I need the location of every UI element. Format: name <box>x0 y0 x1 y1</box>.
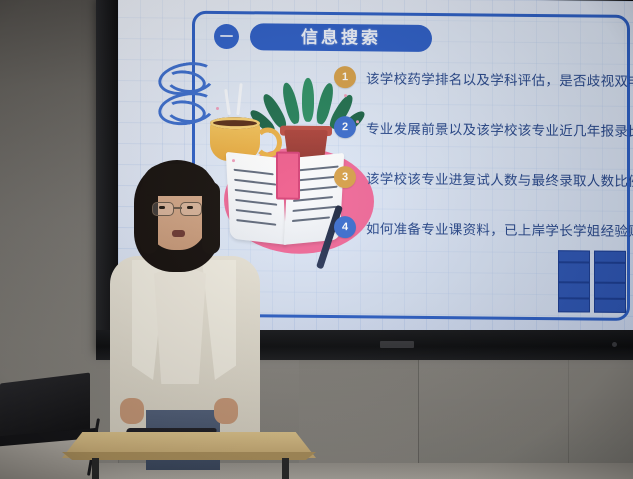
bullet-text: 专业发展前景以及该学校该专业近几年报录比 <box>366 117 633 140</box>
list-item: 4 如何准备专业课资料，已上岸学长学姐经验贴 <box>334 202 632 255</box>
list-item: 1 该学校药学排名以及学科评估，是否歧视双非 <box>334 52 632 105</box>
podium-leg <box>92 458 99 479</box>
wall-panel <box>568 352 633 479</box>
bullet-text: 该学校药学排名以及学科评估，是否歧视双非 <box>366 67 633 90</box>
presenter <box>118 160 248 460</box>
display-sensor-icon <box>612 342 617 347</box>
hand-right <box>214 398 238 424</box>
steam-icon <box>236 83 242 115</box>
slide-bullet-list: 1 该学校药学排名以及学科评估，是否歧视双非 2 专业发展前景以及该学校该专业近… <box>334 52 632 255</box>
mouth <box>172 230 185 237</box>
bookshelf-decoration <box>558 250 626 311</box>
steam-icon <box>224 89 231 115</box>
bullet-number: 2 <box>334 116 356 138</box>
hand-left <box>120 398 144 424</box>
eye-left <box>159 206 165 209</box>
glasses-lens-left <box>152 202 174 216</box>
eye-right <box>187 206 193 209</box>
bullet-number: 4 <box>334 216 356 238</box>
page-title: 信息搜索 <box>250 23 432 52</box>
hair-fringe <box>142 164 212 196</box>
list-item: 3 该学校该专业进复试人数与最终录取人数比例 <box>334 152 632 205</box>
display-brand-logo <box>380 341 414 348</box>
wall-panel <box>418 352 569 479</box>
bullet-number: 3 <box>334 166 356 188</box>
bullet-text: 如何准备专业课资料，已上岸学长学姐经验贴 <box>366 217 633 240</box>
list-item: 2 专业发展前景以及该学校该专业近几年报录比 <box>334 102 632 155</box>
plant-leaf-icon <box>302 78 314 122</box>
glasses-bridge <box>174 207 182 209</box>
bullet-number: 1 <box>334 66 356 88</box>
inner-top <box>154 264 206 384</box>
slide-title-row: 一 信息搜索 <box>214 23 432 52</box>
section-number-badge: 一 <box>214 24 239 49</box>
podium-leg <box>282 458 289 479</box>
podium-edge <box>62 452 316 460</box>
bullet-text: 该学校该专业进复试人数与最终录取人数比例 <box>366 167 633 190</box>
bookmark-icon <box>276 152 300 200</box>
glasses-lens-right <box>180 202 202 216</box>
screenshot-scene: 一 信息搜索 <box>0 0 633 479</box>
